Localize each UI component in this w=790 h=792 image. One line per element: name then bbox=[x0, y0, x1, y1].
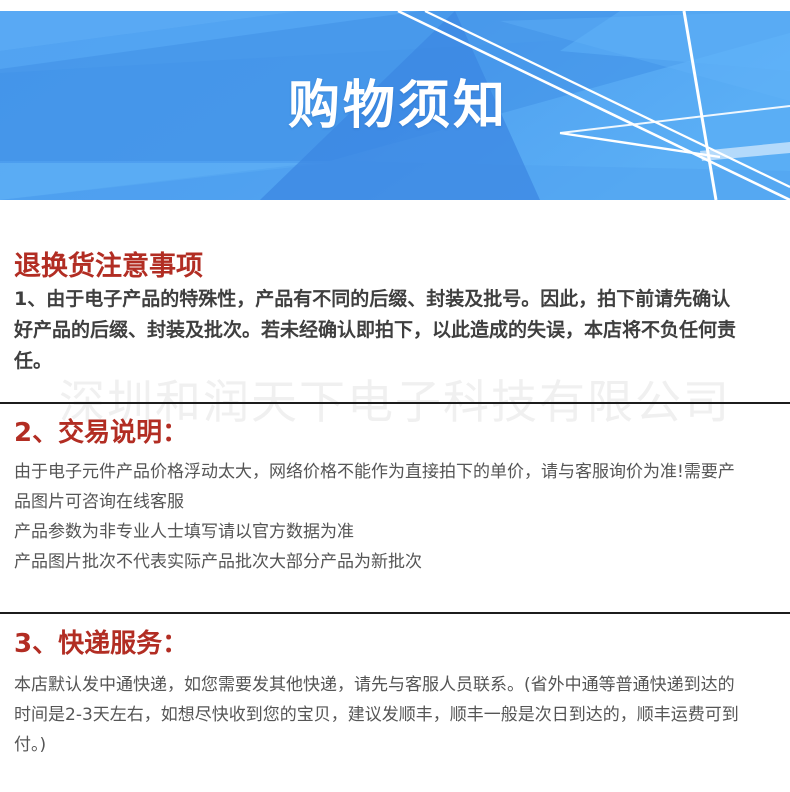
paragraph-line: 1、由于电子产品的特殊性，产品有不同的后缀、封装及批号。因此，拍下前请先确认 bbox=[14, 284, 778, 315]
section-heading-transaction-notes: 2、交易说明： bbox=[14, 419, 188, 449]
section-divider bbox=[0, 612, 790, 614]
page-banner: 购物须知 bbox=[0, 11, 790, 200]
paragraph-line: 本店默认发中通快递，如您需要发其他快递，请先与客服人员联系。(省外中通等普通快递… bbox=[14, 670, 782, 700]
section-heading-return-policy: 退换货注意事项 bbox=[14, 251, 203, 282]
section-divider bbox=[0, 402, 790, 404]
section-body-transaction-notes: 由于电子元件产品价格浮动太大，网络价格不能作为直接拍下的单价，请与客服询价为准!… bbox=[14, 457, 782, 577]
paragraph-line: 好产品的后缀、封装及批次。若未经确认即拍下，以此造成的失误，本店将不负任何责 bbox=[14, 315, 778, 346]
paragraph-line: 品图片可咨询在线客服 bbox=[14, 487, 782, 517]
paragraph-line: 付。) bbox=[14, 730, 782, 760]
section-body-return-policy: 1、由于电子产品的特殊性，产品有不同的后缀、封装及批号。因此，拍下前请先确认 好… bbox=[14, 284, 778, 377]
banner-background-graphic bbox=[0, 11, 790, 200]
paragraph-line: 由于电子元件产品价格浮动太大，网络价格不能作为直接拍下的单价，请与客服询价为准!… bbox=[14, 457, 782, 487]
paragraph-line: 产品图片批次不代表实际产品批次大部分产品为新批次 bbox=[14, 547, 782, 577]
paragraph-line: 任。 bbox=[14, 346, 778, 377]
paragraph-line: 时间是2-3天左右，如想尽快收到您的宝贝，建议发顺丰，顺丰一般是次日到达的，顺丰… bbox=[14, 700, 782, 730]
section-heading-shipping-service: 3、快递服务： bbox=[14, 630, 188, 660]
section-body-shipping-service: 本店默认发中通快递，如您需要发其他快递，请先与客服人员联系。(省外中通等普通快递… bbox=[14, 670, 782, 760]
paragraph-line: 产品参数为非专业人士填写请以官方数据为准 bbox=[14, 517, 782, 547]
shopping-notice-page: 购物须知 深圳和润天下电子科技有限公司 退换货注意事项 1、由于电子产品的特殊性… bbox=[0, 0, 790, 792]
